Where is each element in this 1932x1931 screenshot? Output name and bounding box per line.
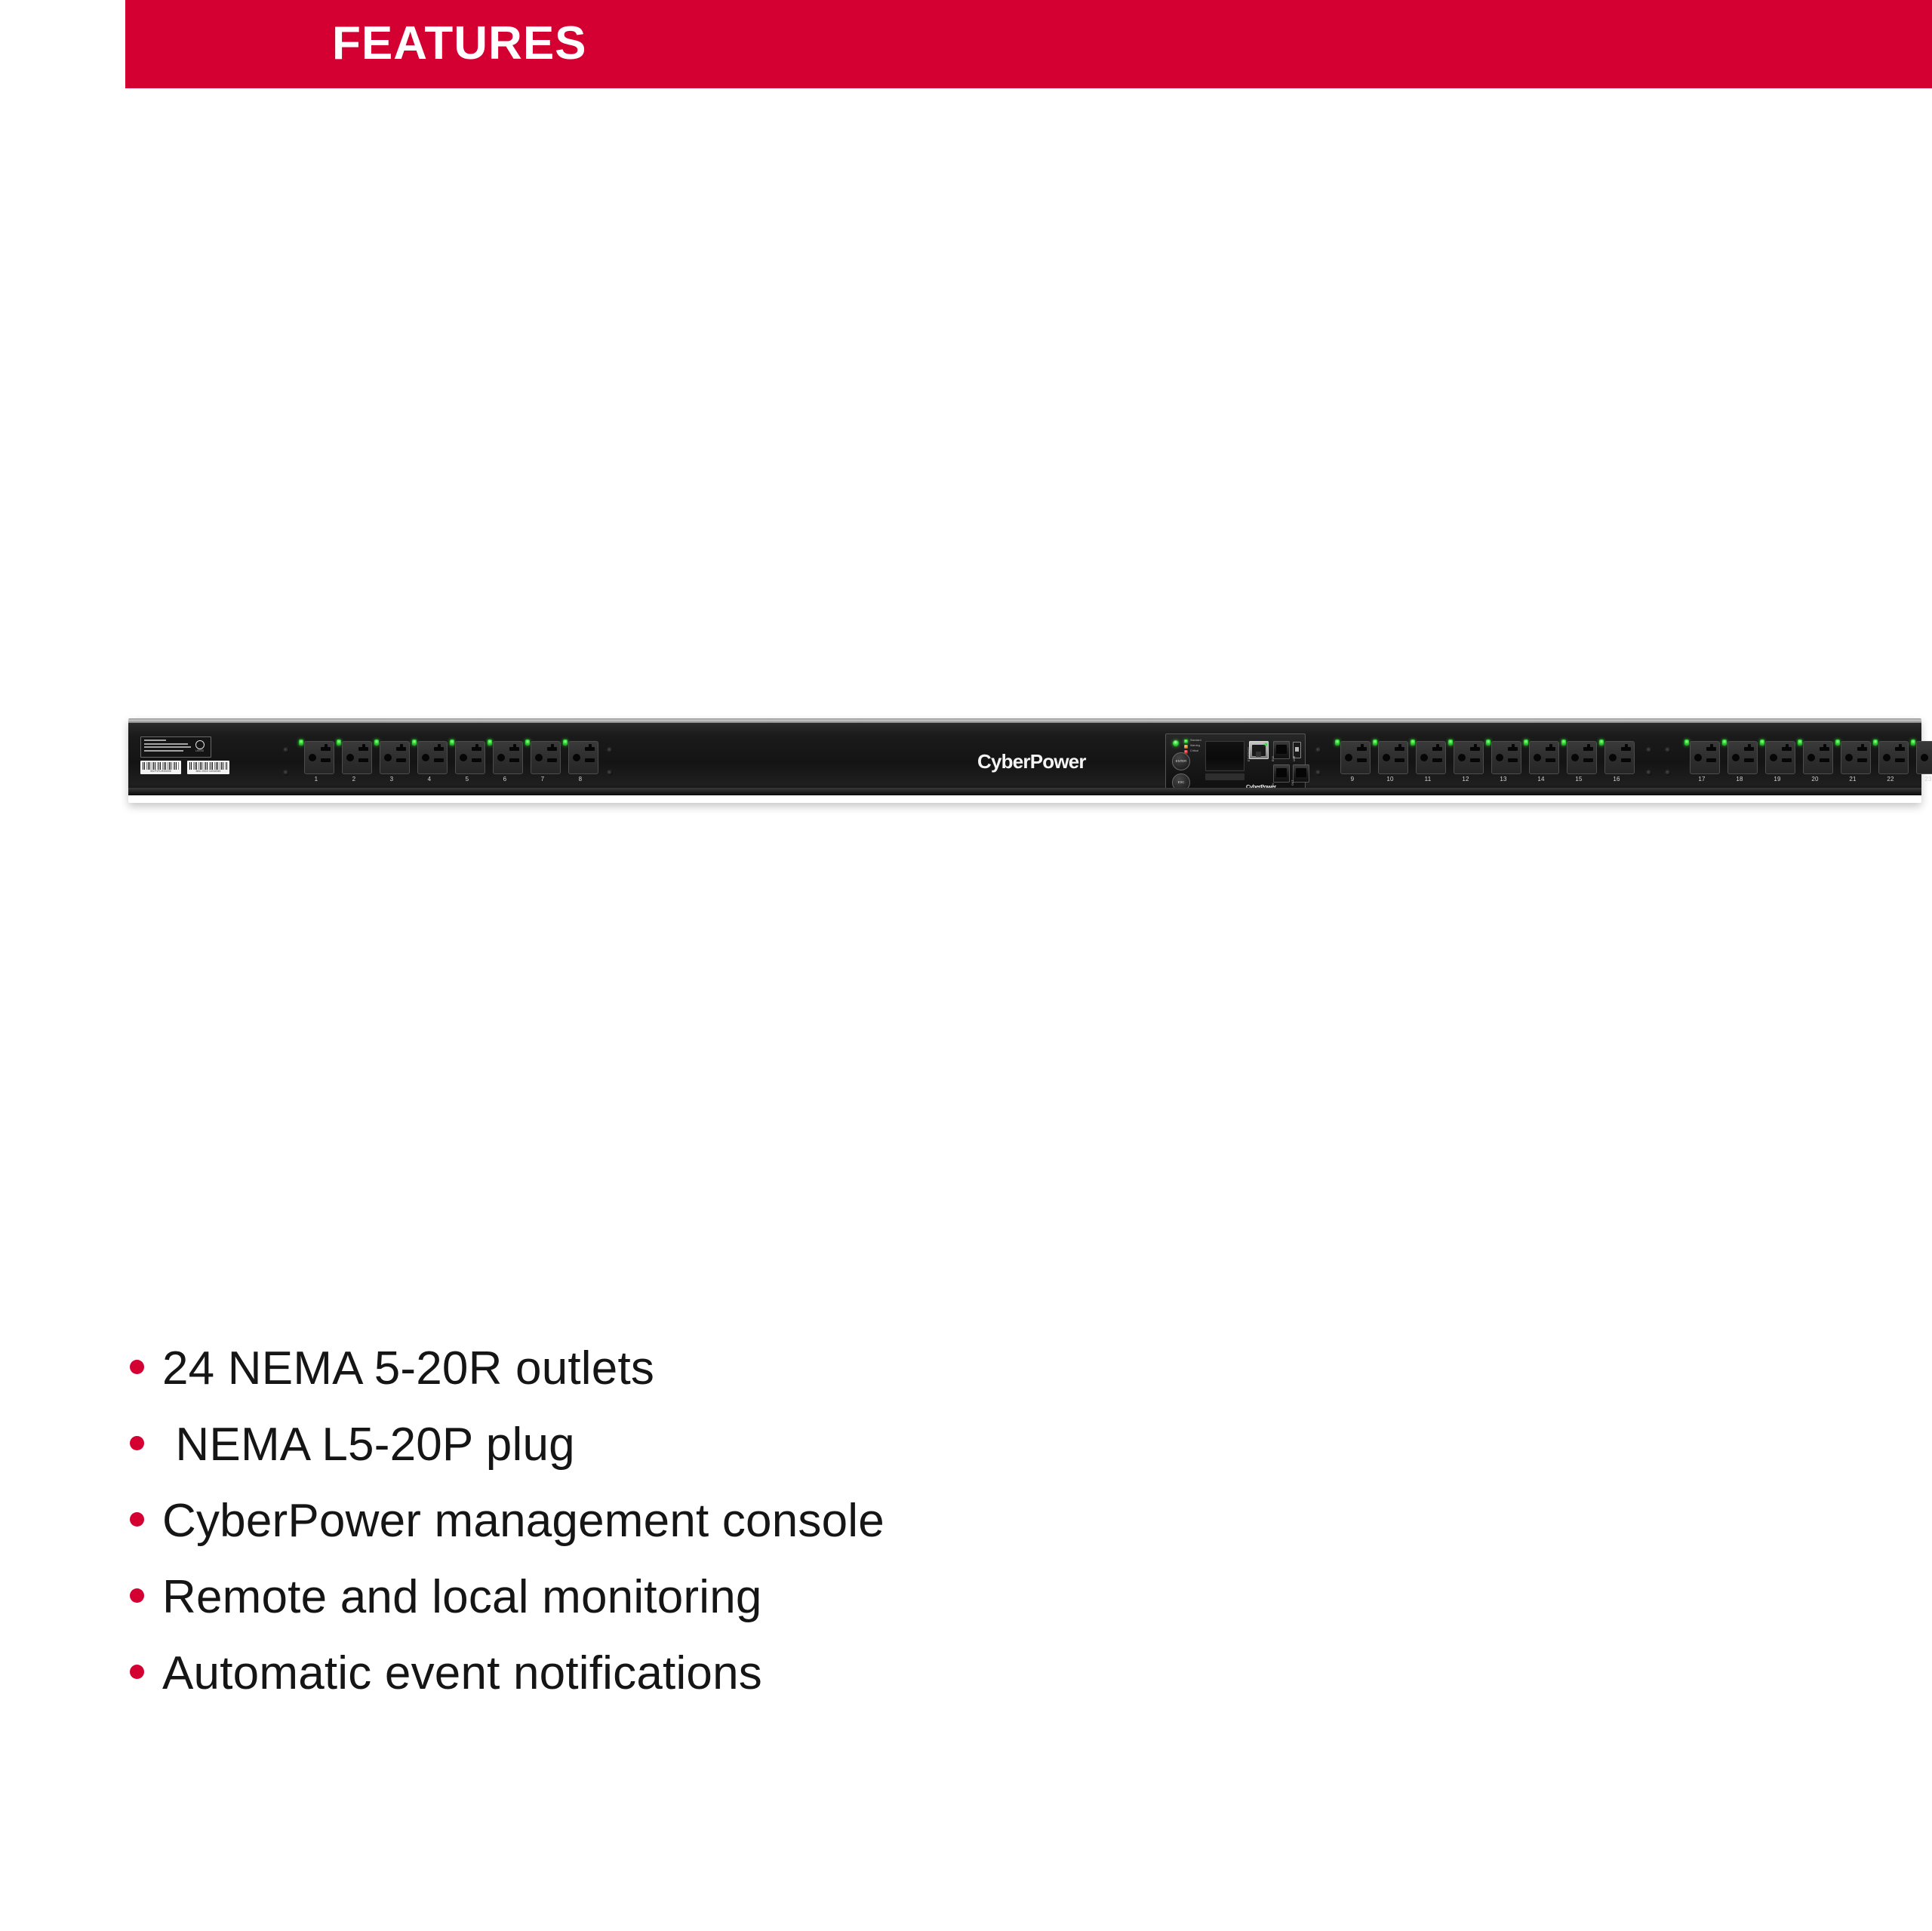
outlet-led-icon [1684, 739, 1689, 746]
features-bullet-list: 24 NEMA 5-20R outlets NEMA L5-20P plug C… [130, 1339, 1413, 1720]
env-port-label: ENV [1272, 756, 1275, 761]
outlet-12[interactable]: 12 [1447, 738, 1484, 792]
outlet-3[interactable]: 3 [373, 738, 411, 792]
outlet-number: 18 [1721, 776, 1758, 783]
outlet-number: 13 [1484, 776, 1522, 783]
outlet-number: 22 [1872, 776, 1909, 783]
list-item: Remote and local monitoring [130, 1568, 1413, 1627]
ethernet-port[interactable] [1249, 741, 1269, 759]
nema-5-20r-socket-icon [1340, 741, 1371, 774]
outlet-led-icon [337, 739, 341, 746]
led-indicator-icon [1184, 739, 1188, 743]
nema-5-20r-socket-icon [380, 741, 410, 774]
outlet-number: 5 [448, 776, 486, 783]
mounting-screw-icon [1315, 770, 1321, 776]
feature-text: Automatic event notifications [162, 1644, 762, 1703]
outlet-number: 15 [1560, 776, 1598, 783]
nema-5-20r-socket-icon [1567, 741, 1597, 774]
outlet-led-icon [1760, 739, 1764, 746]
outlet-number: 12 [1447, 776, 1484, 783]
outlet-number: 10 [1371, 776, 1409, 783]
outlet-11[interactable]: 11 [1409, 738, 1447, 792]
in-port[interactable] [1273, 764, 1290, 783]
outlet-22[interactable]: 22 [1872, 738, 1909, 792]
outlet-number: 14 [1522, 776, 1560, 783]
feature-text: Remote and local monitoring [162, 1568, 762, 1627]
mounting-screw-icon [1665, 747, 1671, 753]
outlet-7[interactable]: 7 [524, 738, 561, 792]
pdu-control-module[interactable]: Standard Warning Critical ENTER ESC Cybe… [1165, 733, 1306, 795]
mounting-screw-icon [1646, 770, 1652, 776]
mounting-screw-icon [1646, 747, 1652, 753]
outlet-led-icon [488, 739, 492, 746]
outlet-number: 17 [1683, 776, 1721, 783]
nema-5-20r-socket-icon [1378, 741, 1408, 774]
outlet-led-icon [1335, 739, 1340, 746]
mounting-screw-icon [607, 747, 613, 753]
outlet-14[interactable]: 14 [1522, 738, 1560, 792]
outlet-led-icon [299, 739, 303, 746]
bullet-dot-icon [130, 1436, 144, 1450]
nema-5-20r-socket-icon [1916, 741, 1932, 774]
outlet-20[interactable]: 20 [1796, 738, 1834, 792]
bullet-dot-icon [130, 1588, 144, 1603]
outlet-number: 21 [1834, 776, 1872, 783]
outlet-19[interactable]: 19 [1758, 738, 1796, 792]
outlet-number: 8 [561, 776, 599, 783]
list-item: 24 NEMA 5-20R outlets [130, 1339, 1413, 1398]
outlet-13[interactable]: 13 [1484, 738, 1522, 792]
outlet-led-icon [1411, 739, 1415, 746]
outlet-number: 3 [373, 776, 411, 783]
mounting-screw-icon [1315, 747, 1321, 753]
outlet-number: 2 [335, 776, 373, 783]
esc-button-label: ESC [1173, 780, 1189, 784]
outlet-15[interactable]: 15 [1560, 738, 1598, 792]
outlet-number: 7 [524, 776, 561, 783]
led-indicator-icon [1184, 745, 1188, 749]
spec-rating-label: LISTED [140, 736, 211, 758]
outlet-led-icon [412, 739, 417, 746]
outlet-led-icon [525, 739, 530, 746]
enter-button-label: ENTER [1173, 759, 1189, 763]
cyberpower-logo: CyberPower [977, 750, 1086, 773]
barcode-stripes [189, 762, 227, 770]
outlet-number: 4 [411, 776, 448, 783]
led-label-warning: Warning [1190, 744, 1200, 747]
outlet-led-icon [1722, 739, 1727, 746]
product-image-pdu: LISTED SN:P1F12KS0006 MAC:00C0 11EA0045 … [128, 718, 1921, 803]
outlet-4[interactable]: 4 [411, 738, 448, 792]
outlet-group-2: 9 10 11 12 [1334, 738, 1635, 792]
ul-certification-icon: LISTED [193, 740, 206, 754]
nema-5-20r-socket-icon [1454, 741, 1484, 774]
outlet-6[interactable]: 6 [486, 738, 524, 792]
bullet-dot-icon [130, 1360, 144, 1374]
out-port[interactable] [1293, 764, 1309, 783]
outlet-number: 23 [1909, 776, 1932, 783]
ethernet-link-led-icon [1265, 743, 1267, 746]
outlet-number: 19 [1758, 776, 1796, 783]
nema-5-20r-socket-icon [1529, 741, 1559, 774]
page-title: FEATURES [332, 6, 587, 81]
outlet-led-icon [1524, 739, 1528, 746]
outlet-led-icon [1873, 739, 1878, 746]
mounting-screw-icon [1665, 770, 1671, 776]
outlet-led-icon [1561, 739, 1566, 746]
feature-text: NEMA L5-20P plug [162, 1416, 575, 1474]
enter-button[interactable]: ENTER [1172, 752, 1190, 770]
mounting-screw-icon [283, 747, 289, 753]
outlet-9[interactable]: 9 [1334, 738, 1371, 792]
feature-text: 24 NEMA 5-20R outlets [162, 1339, 654, 1398]
lcd-display [1205, 741, 1244, 771]
nema-5-20r-socket-icon [1604, 741, 1635, 774]
outlet-2[interactable]: 2 [335, 738, 373, 792]
outlet-21[interactable]: 21 [1834, 738, 1872, 792]
outlet-18[interactable]: 18 [1721, 738, 1758, 792]
barcode-mac: MAC:00C0 11EA0045 [187, 761, 229, 774]
list-item: Automatic event notifications [130, 1644, 1413, 1703]
ethernet-port-label: ETHERNET [1247, 747, 1251, 761]
barcode-mac-text: MAC:00C0 11EA0045 [189, 770, 227, 773]
nema-5-20r-socket-icon [417, 741, 448, 774]
outlet-10[interactable]: 10 [1371, 738, 1409, 792]
outlet-led-icon [1835, 739, 1840, 746]
nema-5-20r-socket-icon [1841, 741, 1871, 774]
led-label-standard: Standard [1190, 739, 1201, 742]
pdu-bottom-bezel [128, 788, 1921, 795]
nema-5-20r-socket-icon [455, 741, 485, 774]
outlet-number: 16 [1598, 776, 1635, 783]
bullet-dot-icon [130, 1512, 144, 1527]
mounting-screw-icon [283, 770, 289, 776]
list-item: NEMA L5-20P plug [130, 1416, 1413, 1474]
list-item: CyberPower management console [130, 1492, 1413, 1551]
outlet-number: 20 [1796, 776, 1834, 783]
outlet-group-3: 17 18 19 20 [1683, 738, 1932, 792]
feature-text: CyberPower management console [162, 1492, 884, 1551]
outlet-led-icon [1798, 739, 1802, 746]
outlet-17[interactable]: 17 [1683, 738, 1721, 792]
nema-5-20r-socket-icon [1878, 741, 1909, 774]
features-header-banner: FEATURES [125, 0, 1932, 88]
outlet-led-icon [563, 739, 568, 746]
nema-5-20r-socket-icon [342, 741, 372, 774]
outlet-number: 6 [486, 776, 524, 783]
nema-5-20r-socket-icon [1765, 741, 1795, 774]
outlet-5[interactable]: 5 [448, 738, 486, 792]
nema-5-20r-socket-icon [1727, 741, 1758, 774]
barcode-serial: SN:P1F12KS0006 [140, 761, 181, 774]
outlet-23[interactable]: 23 [1909, 738, 1932, 792]
mounting-screw-icon [607, 770, 613, 776]
outlet-16[interactable]: 16 [1598, 738, 1635, 792]
nema-5-20r-socket-icon [568, 741, 598, 774]
outlet-group-1: 1 2 3 4 [297, 738, 599, 792]
outlet-1[interactable]: 1 [297, 738, 335, 792]
spec-text-lines [144, 739, 191, 753]
led-label-critical: Critical [1190, 749, 1198, 752]
bullet-dot-icon [130, 1665, 144, 1679]
outlet-led-icon [1911, 739, 1915, 746]
outlet-number: 1 [297, 776, 335, 783]
nema-5-20r-socket-icon [1416, 741, 1446, 774]
outlet-led-icon [1486, 739, 1491, 746]
status-led-standard-icon [1173, 740, 1179, 746]
outlet-number: 11 [1409, 776, 1447, 783]
in-port-label: IN [1272, 783, 1275, 786]
pdu-chassis: LISTED SN:P1F12KS0006 MAC:00C0 11EA0045 … [128, 723, 1921, 795]
outlet-led-icon [374, 739, 379, 746]
outlet-led-icon [1448, 739, 1453, 746]
nema-5-20r-socket-icon [304, 741, 334, 774]
outlet-8[interactable]: 8 [561, 738, 599, 792]
outlet-led-icon [1373, 739, 1377, 746]
barcode-serial-text: SN:P1F12KS0006 [143, 770, 179, 773]
nema-5-20r-socket-icon [1690, 741, 1720, 774]
lcd-lower-strip [1205, 773, 1244, 780]
outlet-led-icon [450, 739, 454, 746]
usb-port-label: USB [1293, 756, 1296, 761]
nema-5-20r-socket-icon [493, 741, 523, 774]
out-port-label: OUT [1291, 780, 1294, 786]
outlet-number: 9 [1334, 776, 1371, 783]
nema-5-20r-socket-icon [1491, 741, 1521, 774]
outlet-led-icon [1599, 739, 1604, 746]
barcode-stripes [143, 762, 179, 770]
nema-5-20r-socket-icon [1803, 741, 1833, 774]
env-port[interactable] [1273, 741, 1290, 759]
nema-5-20r-socket-icon [531, 741, 561, 774]
